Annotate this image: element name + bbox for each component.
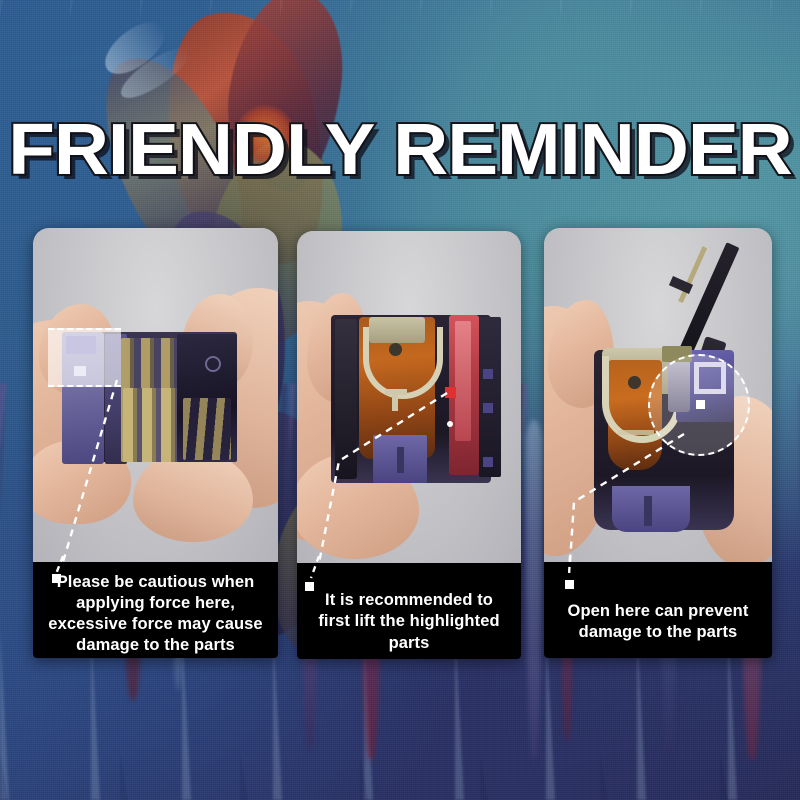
leader-endpoint-marker — [52, 574, 61, 583]
toy-detail — [483, 369, 493, 379]
panel-3: Open here can prevent damage to the part… — [544, 228, 772, 658]
toy-dark-panel — [479, 317, 501, 477]
toy-detail — [392, 391, 398, 411]
poster-root: FRIENDLY REMINDER — [0, 0, 800, 800]
toy-red-highlight — [455, 321, 471, 441]
panel-2: It is recommended to first lift the high… — [297, 231, 521, 659]
toy-gold-links — [123, 388, 179, 462]
toy-detail — [205, 356, 221, 372]
panel-1-photo — [33, 228, 278, 562]
toy-detail — [483, 403, 493, 413]
toy-detail — [483, 457, 493, 467]
toy-gold-links — [183, 398, 231, 460]
panel-3-photo — [544, 228, 772, 562]
highlight-dot — [696, 400, 705, 409]
highlight-dot — [447, 421, 453, 427]
toy-detail — [618, 430, 654, 435]
caption-text: Open here can prevent damage to the part… — [554, 601, 762, 644]
panel-3-caption: Open here can prevent damage to the part… — [544, 562, 772, 658]
page-title: FRIENDLY REMINDER — [0, 114, 800, 186]
panel-2-caption: It is recommended to first lift the high… — [297, 563, 521, 659]
caption-text: It is recommended to first lift the high… — [307, 590, 511, 654]
toy-detail — [397, 447, 404, 473]
panel-1: Please be cautious when applying force h… — [33, 228, 278, 658]
leader-endpoint-marker — [565, 580, 574, 589]
panel-1-caption: Please be cautious when applying force h… — [33, 562, 278, 658]
leader-endpoint-marker — [305, 582, 314, 591]
toy-detail — [628, 376, 641, 389]
toy-detail — [644, 496, 652, 526]
caption-text: Please be cautious when applying force h… — [43, 572, 268, 656]
highlight-red-spot — [445, 387, 456, 398]
highlight-rectangle — [48, 328, 121, 387]
toy-side-panel — [335, 319, 357, 479]
panel-2-photo — [297, 231, 521, 563]
toy-detail — [389, 343, 402, 356]
